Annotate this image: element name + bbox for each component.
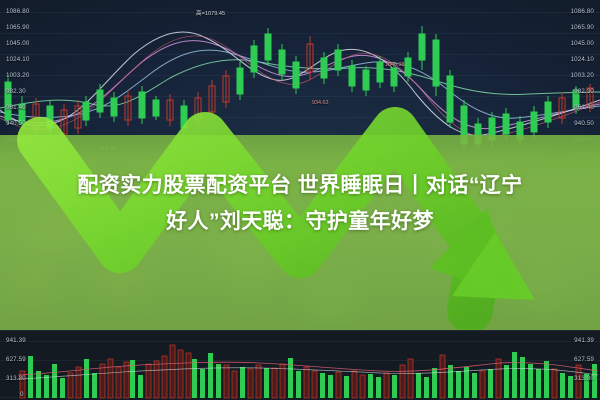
volume-tick-left-1: 627.59 bbox=[6, 356, 26, 363]
price-tick-left-2: 1045.00 bbox=[6, 40, 29, 47]
volume-tick-right-2: 313.80 bbox=[574, 375, 594, 382]
price-tick-left-3: 1024.10 bbox=[6, 56, 29, 63]
high-marker-label: 高=1079.45 bbox=[196, 9, 225, 17]
left-marker-label: 934.63 bbox=[312, 100, 329, 106]
volume-tick-left-2: 313.80 bbox=[6, 375, 26, 382]
mid-marker-label: 1046.98 bbox=[385, 62, 405, 68]
price-tick-right-0: 1086.80 bbox=[571, 8, 594, 15]
volume-tick-right-0: 941.39 bbox=[574, 337, 594, 344]
price-tick-left-7: 940.50 bbox=[6, 120, 26, 127]
page-title: 配资实力股票配资平台 世界睡眠日丨对话“辽宁 好人”刘天聪：守护童年好梦 bbox=[0, 168, 600, 240]
price-tick-left-0: 1086.80 bbox=[6, 8, 29, 15]
volume-bars-svg bbox=[0, 331, 600, 400]
price-tick-right-6: 961.40 bbox=[574, 104, 594, 111]
price-tick-right-4: 1003.20 bbox=[571, 72, 594, 79]
ma-secondary-line bbox=[0, 36, 600, 137]
price-tick-right-2: 1045.00 bbox=[571, 40, 594, 47]
volume-tick-left-3: 0 bbox=[20, 391, 24, 398]
price-tick-right-1: 1065.90 bbox=[571, 24, 594, 31]
candle-series bbox=[5, 26, 593, 150]
ma10-line bbox=[0, 41, 600, 129]
price-tick-right-5: 982.30 bbox=[574, 88, 594, 95]
price-tick-left-4: 1003.20 bbox=[6, 72, 29, 79]
stock-chart-banner: 1086.80 1065.90 1045.00 1024.10 1003.20 … bbox=[0, 0, 600, 400]
ma60-line bbox=[0, 60, 600, 108]
price-tick-left-5: 982.30 bbox=[6, 88, 26, 95]
volume-chart-panel: 941.39 627.59 313.80 0 941.39 627.59 313… bbox=[0, 330, 600, 400]
volume-tick-left-0: 941.39 bbox=[6, 337, 26, 344]
price-tick-right-3: 1024.10 bbox=[571, 56, 594, 63]
price-tick-right-7: 940.50 bbox=[574, 120, 594, 127]
price-tick-left-1: 1065.90 bbox=[6, 24, 29, 31]
price-tick-left-6: 961.40 bbox=[6, 104, 26, 111]
volume-tick-right-1: 627.59 bbox=[574, 356, 594, 363]
ma20-line bbox=[0, 50, 600, 118]
